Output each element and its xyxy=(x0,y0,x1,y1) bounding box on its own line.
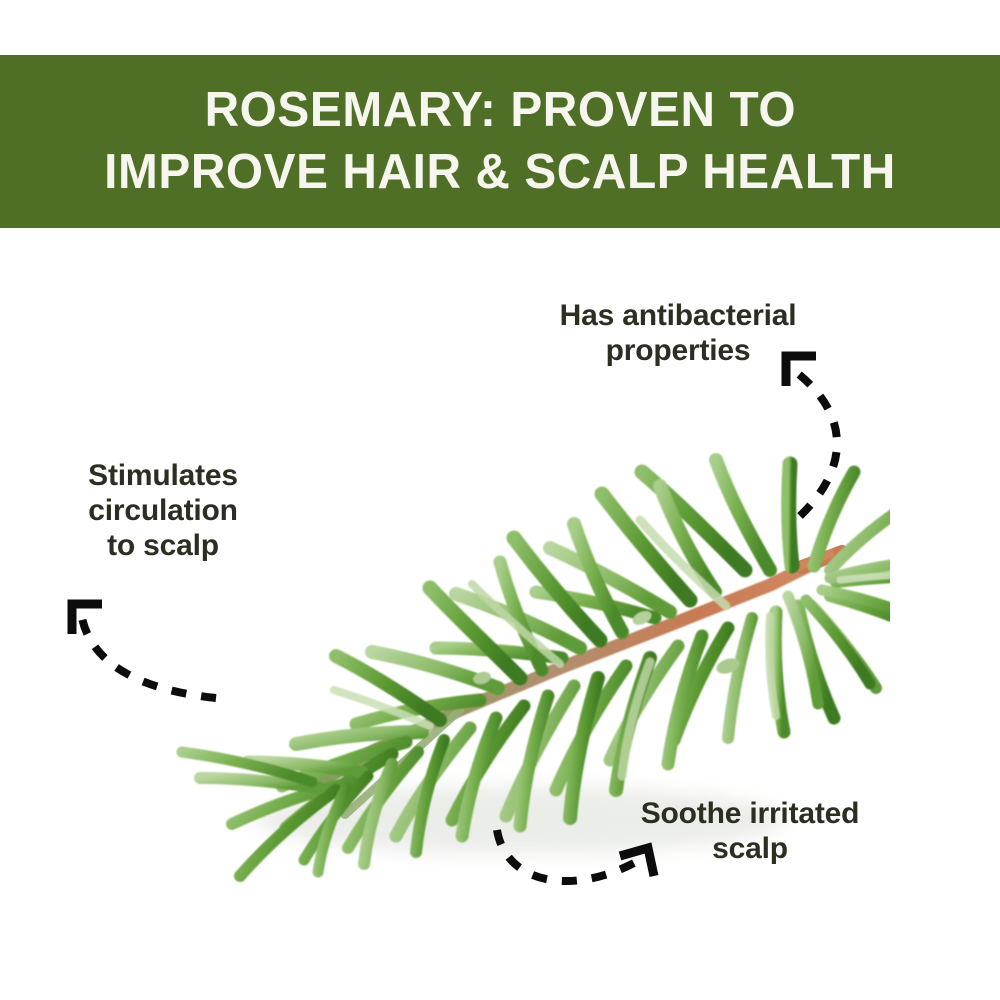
banner-title-line-2: IMPROVE HAIR & SCALP HEALTH xyxy=(104,148,896,197)
header-banner: ROSEMARY: PROVEN TO IMPROVE HAIR & SCALP… xyxy=(0,55,1000,228)
callout-label-soothe: Soothe irritated scalp xyxy=(600,796,900,866)
banner-title-line-1: ROSEMARY: PROVEN TO xyxy=(204,86,796,135)
callout-label-antibacterial: Has antibacterial properties xyxy=(508,298,848,368)
callout-label-circulation: Stimulates circulation to scalp xyxy=(50,458,276,563)
infographic-canvas: ROSEMARY: PROVEN TO IMPROVE HAIR & SCALP… xyxy=(0,0,1000,1000)
